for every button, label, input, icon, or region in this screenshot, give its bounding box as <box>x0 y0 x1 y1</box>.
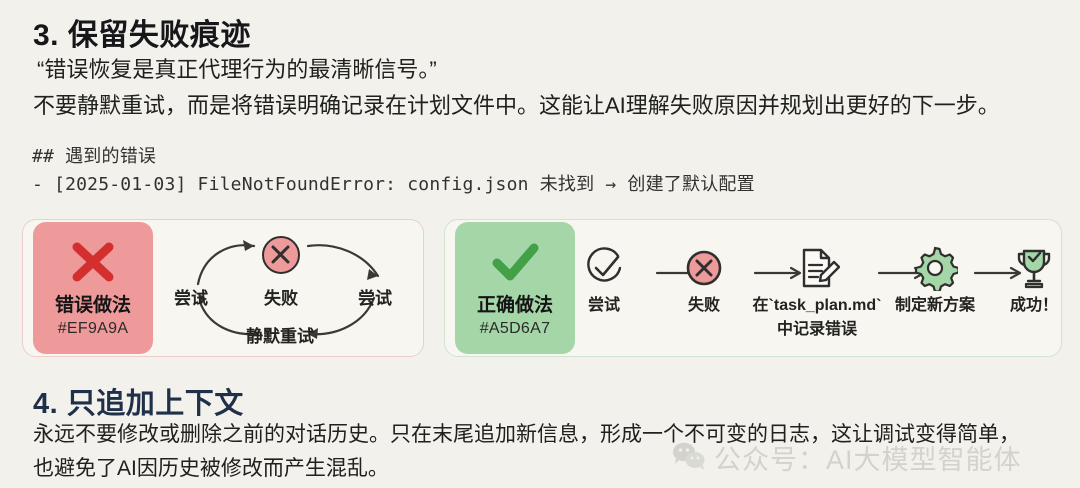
cross-mark-icon <box>64 238 122 286</box>
recovery-flow-diagram: 尝试 失败 <box>575 244 1053 352</box>
check-circle-icon <box>582 244 626 292</box>
slide-root: 3. 保留失败痕迹 “错误恢复是真正代理行为的最清晰信号。” 不要静默重试，而是… <box>0 0 1080 488</box>
flow-step-success: 成功！ <box>979 244 1080 316</box>
bad-practice-label: 错误做法 <box>55 290 131 317</box>
trophy-icon <box>1011 244 1057 292</box>
section4-paragraph-line2: 也避免了AI因历史被修改而产生混乱。 <box>33 452 389 482</box>
section4-paragraph-line1: 永远不要修改或删除之前的对话历史。只在末尾追加新信息，形成一个不可变的日志，这让… <box>33 418 1020 448</box>
section3-paragraph: 不要静默重试，而是将错误明确记录在计划文件中。这能让AI理解失败原因并规划出更好… <box>33 88 1000 120</box>
cycle-label-silent-retry: 静默重试 <box>246 322 314 347</box>
section3-quote: “错误恢复是真正代理行为的最清晰信号。” <box>37 52 437 84</box>
bad-practice-hex: #EF9A9A <box>58 320 129 338</box>
flow-step-record-label2: 中记录错误 <box>777 321 857 340</box>
cycle-label-fail: 失败 <box>264 284 298 309</box>
flow-step-record-label: 在`task_plan.md` <box>753 297 882 316</box>
code-line-error: - [2025-01-03] FileNotFoundError: config… <box>32 170 755 196</box>
document-edit-icon <box>794 244 840 292</box>
flow-step-new-plan-label: 制定新方案 <box>895 297 975 316</box>
code-line-heading: ## 遇到的错误 <box>32 142 156 168</box>
flow-step-try-label: 尝试 <box>588 297 620 316</box>
bad-practice-chip: 错误做法 #EF9A9A <box>33 222 153 354</box>
flow-step-success-label: 成功！ <box>1010 297 1058 316</box>
section4-heading: 4. 只追加上下文 <box>33 380 244 422</box>
good-practice-label: 正确做法 <box>477 290 553 317</box>
check-mark-icon <box>486 238 544 286</box>
flow-step-fail-label: 失败 <box>688 297 720 316</box>
gear-icon <box>912 244 958 292</box>
cross-circle-icon <box>682 244 726 292</box>
section3-heading: 3. 保留失败痕迹 <box>33 10 251 54</box>
retry-cycle-diagram: 尝试 失败 尝试 静默重试 <box>168 228 418 350</box>
good-practice-hex: #A5D6A7 <box>480 320 551 338</box>
flow-step-fail: 失败 <box>649 244 759 316</box>
flow-step-record: 在`task_plan.md` 中记录错误 <box>747 244 887 340</box>
flow-step-try: 尝试 <box>549 244 659 316</box>
cycle-label-try-left: 尝试 <box>174 284 208 309</box>
cross-circle-icon <box>264 238 297 271</box>
cycle-fail-node <box>262 236 300 274</box>
cycle-label-try-right: 尝试 <box>358 284 392 309</box>
